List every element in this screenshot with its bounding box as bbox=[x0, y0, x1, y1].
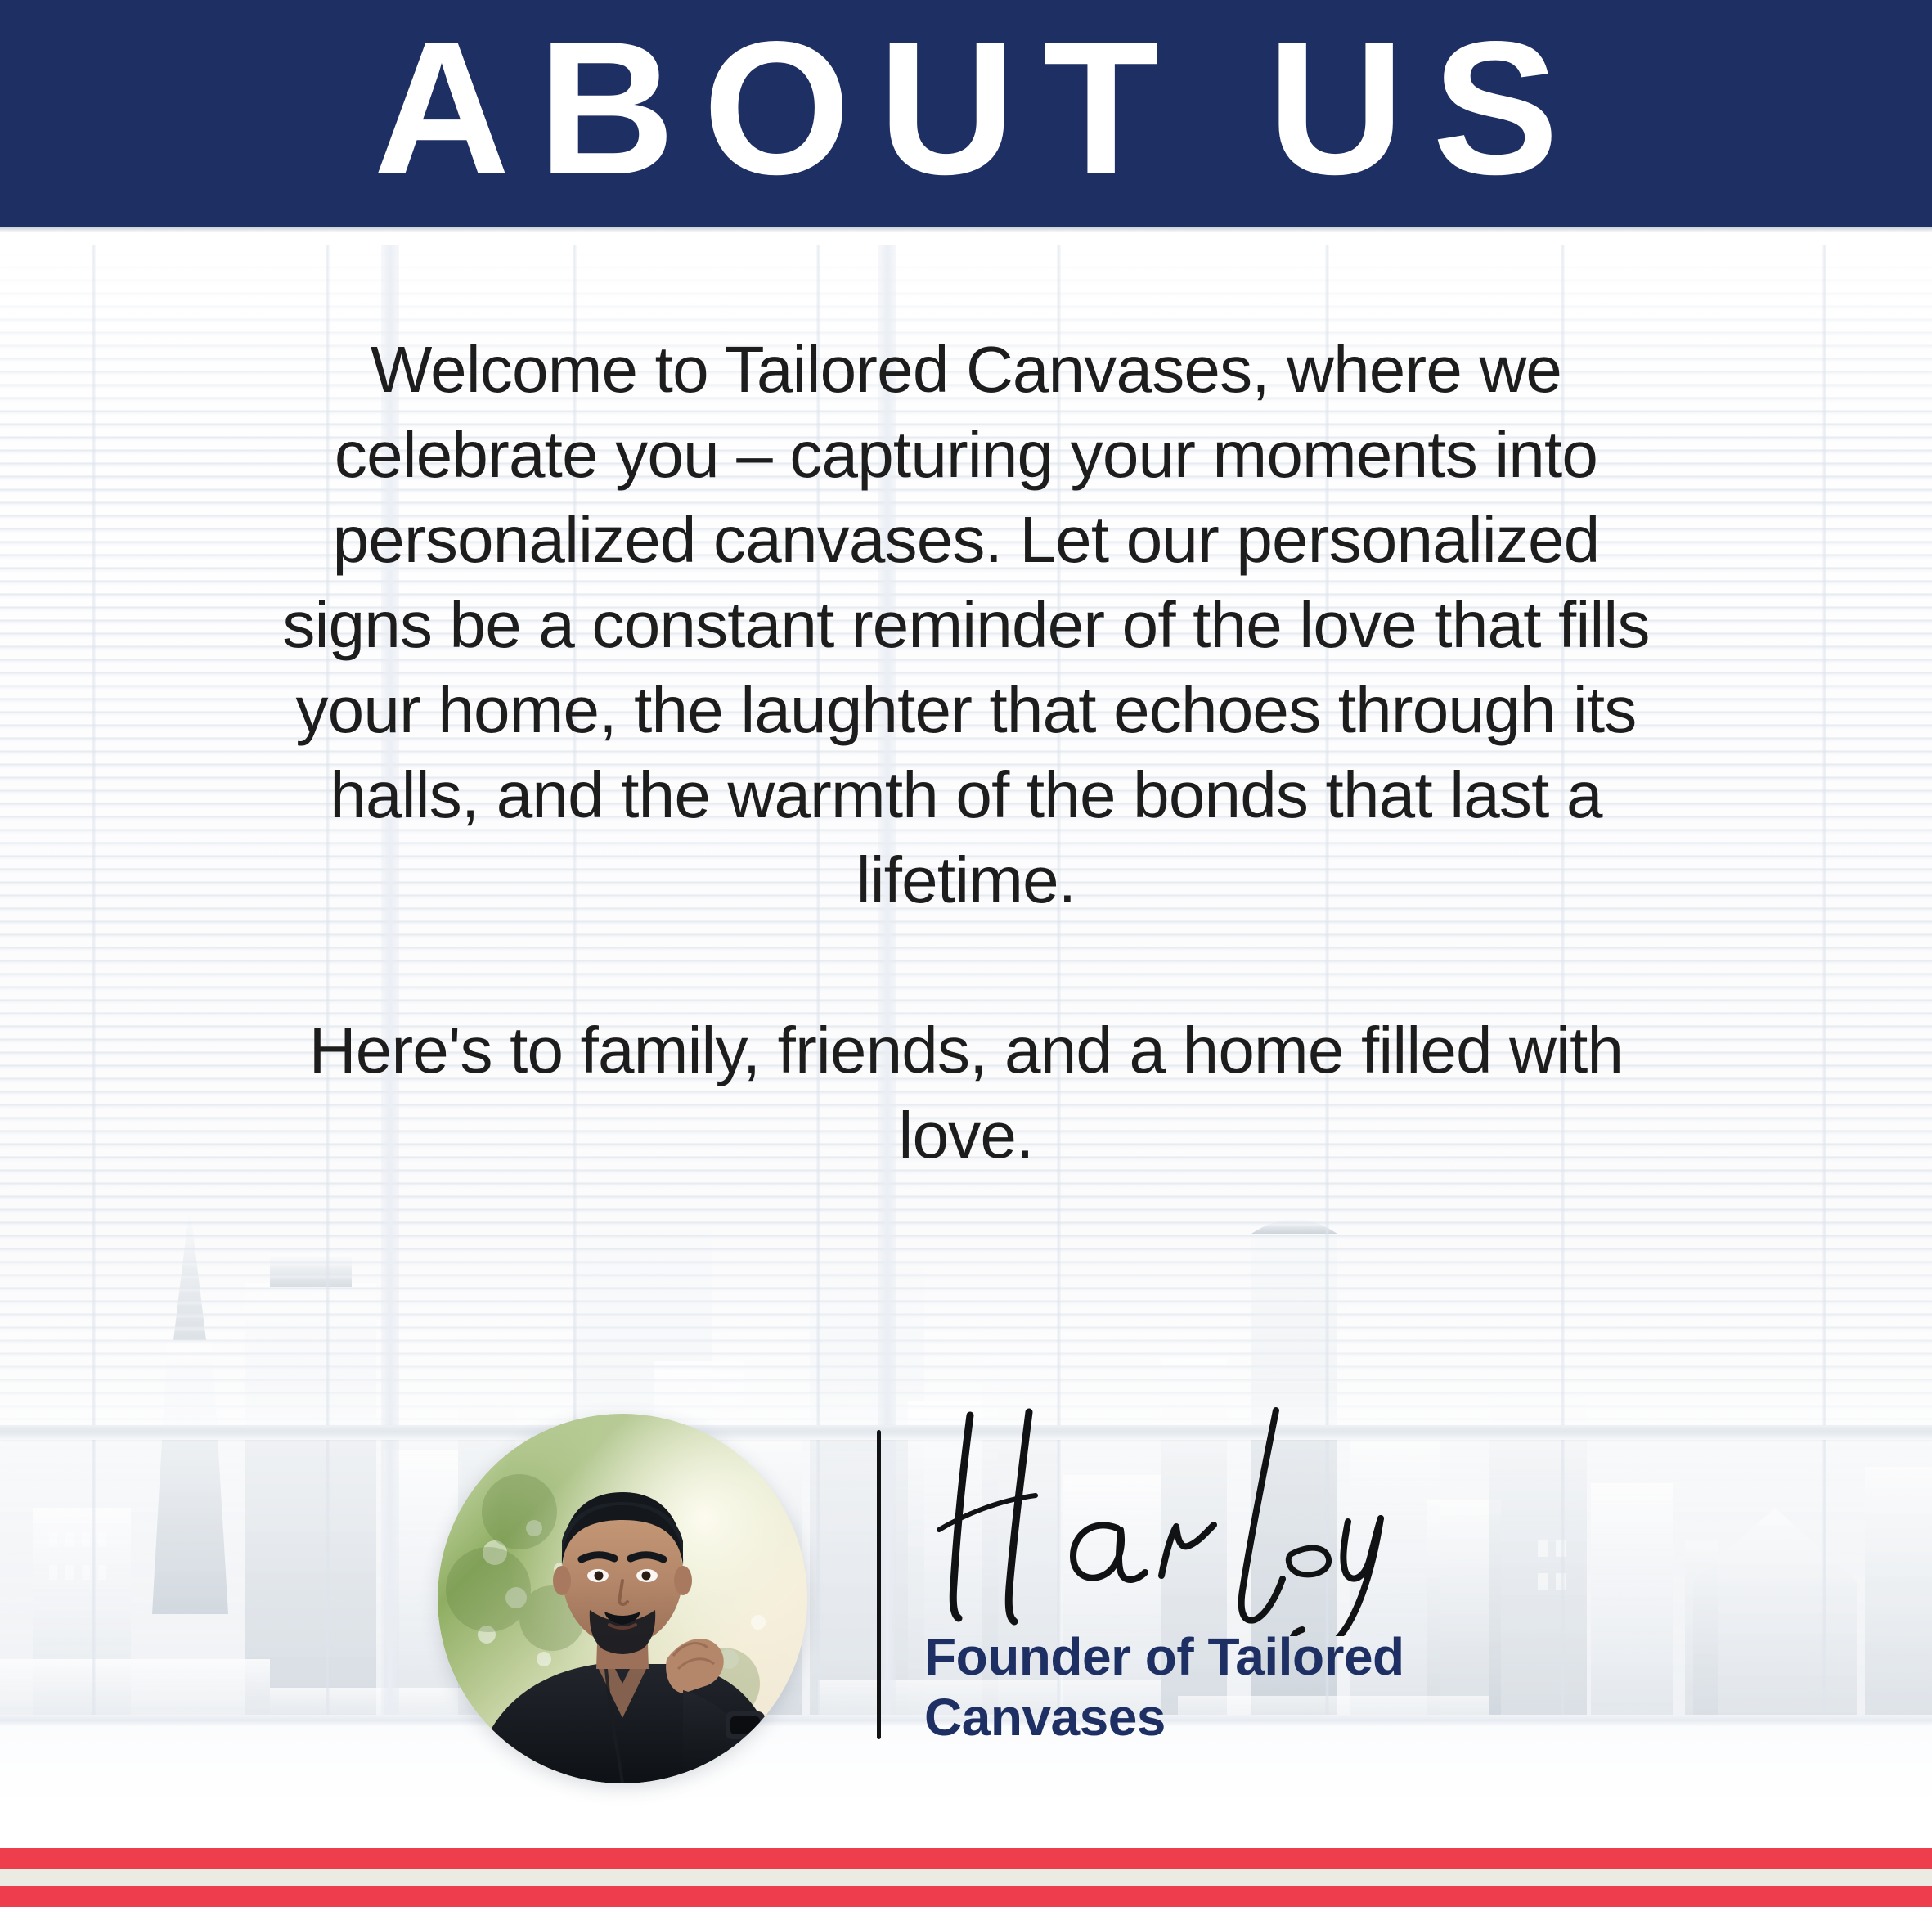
about-us-poster: ABOUT US Welcome to Tailored Canvases, w… bbox=[0, 0, 1932, 1907]
about-copy: Welcome to Tailored Canvases, where we c… bbox=[271, 327, 1661, 1178]
about-paragraph-1: Welcome to Tailored Canvases, where we c… bbox=[271, 327, 1661, 923]
header-bar: ABOUT US bbox=[0, 0, 1932, 227]
founder-role: Founder of Tailored Canvases bbox=[924, 1626, 1546, 1747]
signature-divider bbox=[877, 1430, 881, 1739]
footer-stripe-bottom bbox=[0, 1886, 1932, 1907]
avatar bbox=[438, 1414, 807, 1783]
paragraph-spacer bbox=[271, 923, 1661, 1008]
about-paragraph-2: Here's to family, friends, and a home fi… bbox=[271, 1008, 1661, 1178]
signature-block: Founder of Tailored Canvases bbox=[906, 1391, 1577, 1751]
founder-signature bbox=[906, 1391, 1561, 1636]
window-mullion bbox=[1822, 245, 1826, 1726]
founder-role-line-1: Founder of Tailored bbox=[924, 1626, 1546, 1687]
footer-stripe-gap bbox=[0, 1869, 1932, 1886]
window-mullion bbox=[92, 245, 96, 1726]
footer-stripe-top bbox=[0, 1848, 1932, 1869]
founder-role-line-2: Canvases bbox=[924, 1687, 1546, 1747]
page-title: ABOUT US bbox=[345, 14, 1587, 204]
header-underline bbox=[0, 227, 1932, 232]
